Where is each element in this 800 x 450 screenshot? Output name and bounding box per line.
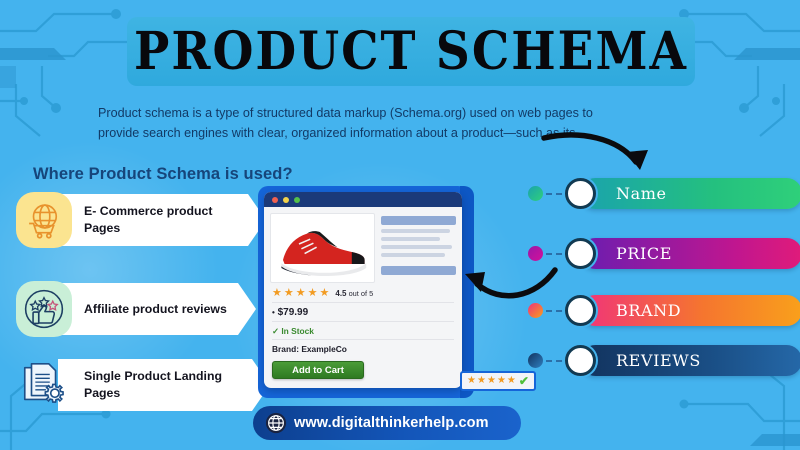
- property-knob-icon: [565, 295, 596, 326]
- star-icon: ★: [284, 288, 294, 299]
- placeholder-bar: [381, 229, 450, 233]
- placeholder-bar: [381, 216, 456, 225]
- document-gear-icon: [16, 357, 72, 413]
- rating-value-text: 4.5 out of 5: [335, 289, 373, 298]
- star-icon: ★: [272, 288, 282, 299]
- product-card-body: [264, 207, 462, 283]
- product-info-placeholders: [381, 213, 456, 283]
- add-to-cart-button[interactable]: Add to Cart: [272, 361, 364, 379]
- star-icon: ★: [308, 288, 318, 299]
- property-dot-icon: [528, 246, 543, 261]
- placeholder-bar: [381, 266, 456, 275]
- product-brand: Brand: ExampleCo: [272, 339, 454, 357]
- page-subtitle: Product schema is a type of structured d…: [98, 104, 618, 143]
- usage-section-heading: Where Product Schema is used?: [33, 165, 293, 184]
- list-item-label: Affiliate product reviews: [58, 283, 256, 335]
- list-item-affiliate[interactable]: Affiliate product reviews: [16, 281, 256, 337]
- placeholder-bar: [381, 237, 440, 241]
- property-label: Name: [580, 178, 800, 209]
- globe-cart-icon: [16, 192, 72, 248]
- window-maximize-dot-icon[interactable]: [294, 197, 300, 203]
- title-banner: PRODUCT SCHEMA: [127, 17, 695, 86]
- property-dot-icon: [528, 186, 543, 201]
- product-image: [270, 213, 375, 283]
- property-label: PRICE: [580, 238, 800, 269]
- product-price: • $79.99: [272, 302, 454, 321]
- property-dot-icon: [528, 353, 543, 368]
- placeholder-bar: [381, 245, 452, 249]
- property-dot-icon: [528, 303, 543, 318]
- thumbs-up-stars-icon: [16, 281, 72, 337]
- star-icon: ★: [320, 288, 330, 299]
- window-close-dot-icon[interactable]: [272, 197, 278, 203]
- list-item-ecommerce[interactable]: E- Commerce product Pages: [16, 192, 266, 248]
- property-knob-icon: [565, 345, 596, 376]
- list-item-label: Single Product Landing Pages: [58, 359, 270, 411]
- property-knob-icon: [565, 238, 596, 269]
- browser-title-bar: [264, 192, 462, 207]
- star-icon: ★: [467, 376, 476, 386]
- product-stock-status: ✓ In Stock: [272, 321, 454, 339]
- page-title: PRODUCT SCHEMA: [134, 25, 688, 78]
- placeholder-bar: [381, 253, 445, 257]
- status-badge-rating: ★ ★ ★ ★ ★ ✔: [460, 371, 536, 391]
- property-knob-icon: [565, 178, 596, 209]
- check-icon: ✔: [519, 374, 529, 388]
- property-label: BRAND: [580, 295, 800, 326]
- check-icon: ✓: [272, 326, 279, 336]
- connector-dash: [546, 360, 562, 362]
- footer-url-text: www.digitalthinkerhelp.com: [294, 415, 489, 431]
- list-item-label: E- Commerce product Pages: [58, 194, 266, 246]
- star-icon: ★: [497, 376, 506, 386]
- connector-dash: [546, 310, 562, 312]
- product-details: ★ ★ ★ ★ ★ 4.5 out of 5 • $79.99 ✓ In Sto…: [264, 283, 462, 379]
- connector-dash: [546, 193, 562, 195]
- product-rating: ★ ★ ★ ★ ★ 4.5 out of 5: [272, 288, 454, 302]
- connector-dash: [546, 253, 562, 255]
- infographic-canvas: PRODUCT SCHEMA Product schema is a type …: [0, 0, 800, 450]
- footer-url-bar[interactable]: www.digitalthinkerhelp.com: [253, 406, 521, 440]
- property-row-name[interactable]: Name: [528, 178, 800, 209]
- bullet-icon: •: [272, 308, 275, 317]
- property-row-price[interactable]: PRICE: [528, 238, 800, 269]
- list-item-landing[interactable]: Single Product Landing Pages: [16, 357, 270, 413]
- window-minimize-dot-icon[interactable]: [283, 197, 289, 203]
- property-row-brand[interactable]: BRAND: [528, 295, 800, 326]
- property-row-reviews[interactable]: REVIEWS: [528, 345, 800, 376]
- globe-icon: [265, 412, 287, 434]
- star-icon: ★: [507, 376, 516, 386]
- star-icon: ★: [477, 376, 486, 386]
- product-page-window[interactable]: ★ ★ ★ ★ ★ 4.5 out of 5 • $79.99 ✓ In Sto…: [264, 192, 462, 388]
- star-icon: ★: [296, 288, 306, 299]
- property-label: REVIEWS: [580, 345, 800, 376]
- star-icon: ★: [487, 376, 496, 386]
